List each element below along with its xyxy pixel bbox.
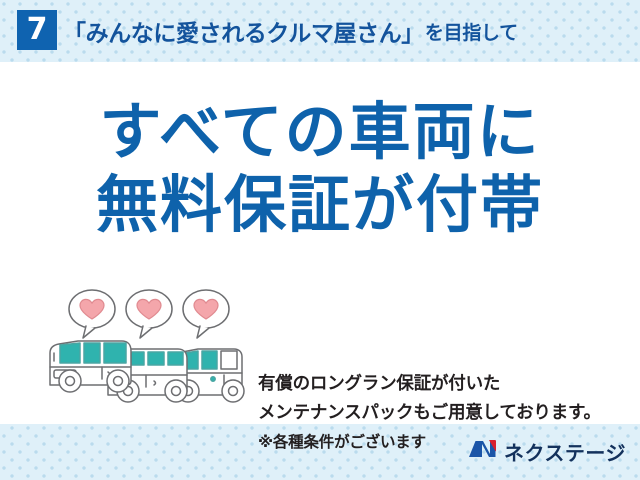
nextage-logo-icon [467,437,497,465]
content-panel: すべての車両に 無料保証が付帯 [0,62,640,424]
brand-name: ネクステージ [504,437,626,466]
heart-bubble-3 [183,290,229,338]
header-band: 7 「みんなに愛されるクルマ屋さん」 を目指して [0,0,640,62]
step-number-badge: 7 [17,10,57,50]
header-title-tail: を目指して [424,18,518,45]
car-kei-wagon [50,341,131,392]
header-title-quoted: 「みんなに愛されるクルマ屋さん」 [63,14,424,48]
promo-slide: 7 「みんなに愛されるクルマ屋さん」 を目指して すべての車両に 無料保証が付帯 [0,0,640,480]
headline-line-1: すべての車両に [0,96,640,169]
lower-row: 有償のロングラン保証が付いた メンテナンスパックもご用意しております。 ※各種条… [0,287,640,417]
heart-bubble-2 [126,290,172,338]
body-copy-line-1: 有償のロングラン保証が付いた [258,370,638,399]
body-copy-line-2: メンテナンスパックもご用意しております。 [258,399,638,428]
three-cars-illustration [38,287,248,407]
heart-bubble-1 [69,290,115,338]
headline-line-2: 無料保証が付帯 [0,169,640,242]
brand-footer: ネクステージ [467,434,626,468]
header-title: 「みんなに愛されるクルマ屋さん」 を目指して [63,13,518,49]
page-title: すべての車両に 無料保証が付帯 [0,96,640,241]
